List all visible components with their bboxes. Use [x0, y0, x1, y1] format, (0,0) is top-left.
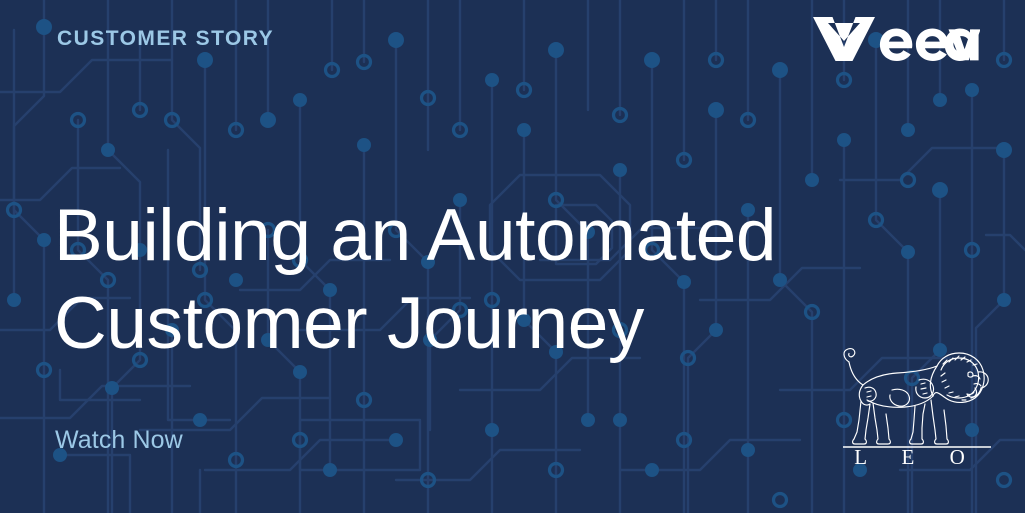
- headline-line-2: Customer Journey: [54, 280, 776, 368]
- veeva-logo[interactable]: [812, 14, 980, 62]
- lion-emblem: [844, 349, 988, 444]
- headline-line-1: Building an Automated: [54, 192, 776, 280]
- page-title: Building an Automated Customer Journey: [54, 192, 776, 368]
- customer-story-banner: CUSTOMER STORY Building an Automated Cus…: [0, 0, 1025, 513]
- leo-pharma-logo: L E O: [837, 340, 997, 465]
- watch-now-link[interactable]: Watch Now: [55, 428, 183, 453]
- eyebrow-label: CUSTOMER STORY: [57, 28, 274, 49]
- leo-wordmark: L E O: [854, 445, 980, 465]
